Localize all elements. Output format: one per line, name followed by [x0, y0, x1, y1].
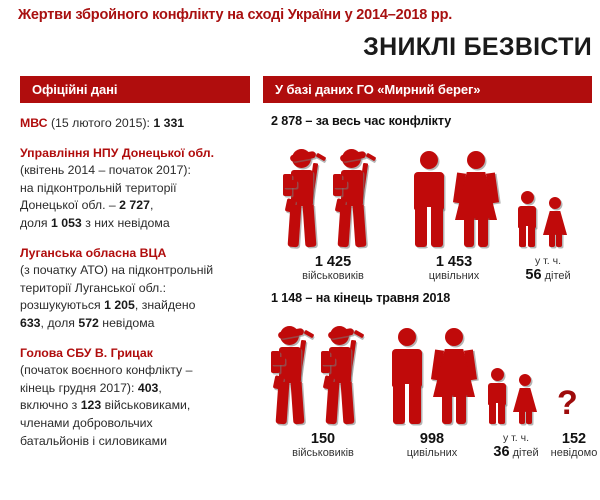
page-subtitle: ЗНИКЛІ БЕЗВІСТИ	[363, 33, 592, 62]
caption-military-may2018-unit: військовиків	[263, 446, 383, 460]
man-icon	[409, 151, 449, 247]
section-header-official-data: Офіційні дані	[20, 76, 250, 103]
caption-children-may2018-number: 36	[493, 444, 509, 460]
data-block-sbu-hrytsak-value-military: 123	[81, 398, 102, 412]
data-block-npu-donetsk-line1: (квітень 2014 – початок 2017):	[20, 163, 191, 177]
data-block-npu-donetsk-line3c: ,	[150, 198, 153, 212]
data-block-sbu-hrytsak-line4: членами добровольчих	[20, 416, 153, 430]
data-block-luhansk-vca: Луганська обласна ВЦА (з початку АТО) на…	[20, 245, 258, 333]
data-block-luhansk-vca-line3c: , знайдено	[135, 298, 196, 312]
pictogram-row-total: 1 425 військовиків 1 453 цивільних	[263, 134, 595, 287]
caption-military-may2018-number: 150	[263, 432, 383, 446]
data-block-mvs-value: 1 331	[153, 116, 184, 130]
caption-children-total-number: 56	[525, 267, 541, 283]
soldier-icon	[283, 147, 331, 247]
caption-children-may2018-unit: дітей	[513, 447, 539, 459]
soldier-icon	[271, 324, 319, 424]
page-title: Жертви збройного конфлікту на сході Укра…	[18, 7, 452, 23]
data-block-npu-donetsk-line3a: Донецької обл. –	[20, 198, 119, 212]
caption-children-total-prefix: у т. ч.	[503, 254, 593, 268]
data-block-sbu-hrytsak-line2a: кінець грудня 2017):	[20, 381, 138, 395]
girl-icon	[542, 197, 568, 247]
data-block-mvs: МВС (15 лютого 2015): 1 331	[20, 115, 258, 133]
data-block-sbu-hrytsak-line3a: включно з	[20, 398, 81, 412]
caption-civilians-total: 1 453 цивільних	[399, 255, 509, 283]
data-block-sbu-hrytsak-line1: (початок воєнного конфлікту –	[20, 363, 192, 377]
data-block-luhansk-vca-line1: (з початку АТО) на підконтрольній	[20, 263, 213, 277]
data-block-luhansk-vca-line4d: невідома	[99, 316, 155, 330]
section-header-official-data-label: Офіційні дані	[32, 82, 117, 97]
man-icon	[387, 328, 427, 424]
data-block-npu-donetsk-line4c: з них невідома	[82, 216, 170, 230]
boy-icon	[485, 368, 509, 424]
girl-icon	[512, 374, 538, 424]
data-block-npu-donetsk-value-unknown: 1 053	[51, 216, 82, 230]
data-block-luhansk-vca-line3a: розшукуються	[20, 298, 104, 312]
data-block-sbu-hrytsak-title: Голова СБУ В. Грицак	[20, 345, 258, 363]
data-block-luhansk-vca-value-searched: 1 205	[104, 298, 135, 312]
caption-unknown-may2018: 152 невідомо	[537, 432, 600, 460]
data-block-luhansk-vca-line4b: , доля	[41, 316, 79, 330]
section-header-database: У базі даних ГО «Мирний берег»	[263, 76, 592, 103]
boy-icon	[515, 191, 539, 247]
data-block-mvs-text1: (15 лютого 2015):	[48, 116, 154, 130]
data-block-luhansk-vca-value-found: 633	[20, 316, 41, 330]
group-heading-total: 2 878 – за весь час конфлікту	[271, 114, 595, 128]
question-mark-icon: ?	[557, 386, 578, 420]
caption-military-total-number: 1 425	[273, 255, 393, 269]
caption-military-may2018: 150 військовиків	[263, 432, 383, 460]
data-block-sbu-hrytsak-line3c: військовиками,	[101, 398, 190, 412]
data-block-sbu-hrytsak-value-total: 403	[138, 381, 159, 395]
data-block-luhansk-vca-line2: території Луганської обл.:	[20, 281, 166, 295]
section-header-database-label: У базі даних ГО «Мирний берег»	[275, 82, 480, 97]
woman-icon	[453, 151, 499, 247]
data-block-luhansk-vca-value-unknown: 572	[78, 316, 99, 330]
caption-military-total-unit: військовиків	[273, 269, 393, 283]
data-block-npu-donetsk: Управління НПУ Донецької обл. (квітень 2…	[20, 145, 258, 233]
pictogram-row-may2018: 150 військовиків 998 цивільних у	[263, 311, 595, 464]
data-block-sbu-hrytsak-line2c: ,	[158, 381, 161, 395]
official-data-column: МВС (15 лютого 2015): 1 331 Управління Н…	[20, 115, 258, 450]
soldier-icon	[321, 324, 369, 424]
data-block-mvs-title: МВС	[20, 116, 48, 130]
caption-unknown-may2018-number: 152	[537, 432, 600, 446]
data-block-npu-donetsk-line2: на підконтрольній території	[20, 181, 177, 195]
caption-children-total-unit: дітей	[545, 270, 571, 282]
caption-children-total: у т. ч. 56 дітей	[503, 254, 593, 283]
group-heading-may2018: 1 148 – на кінець травня 2018	[271, 291, 595, 305]
data-block-npu-donetsk-line4a: доля	[20, 216, 51, 230]
soldier-icon	[333, 147, 381, 247]
woman-icon	[431, 328, 477, 424]
data-block-sbu-hrytsak-line5: батальйонів і силовиками	[20, 434, 167, 448]
caption-unknown-may2018-unit: невідомо	[537, 446, 600, 460]
caption-military-total: 1 425 військовиків	[273, 255, 393, 283]
data-block-luhansk-vca-title: Луганська обласна ВЦА	[20, 245, 258, 263]
data-block-npu-donetsk-value-total: 2 727	[119, 198, 150, 212]
caption-civilians-total-unit: цивільних	[399, 269, 509, 283]
data-block-npu-donetsk-title: Управління НПУ Донецької обл.	[20, 145, 258, 163]
database-column: 2 878 – за весь час конфлікту 1 425 війс…	[263, 114, 595, 464]
caption-civilians-total-number: 1 453	[399, 255, 509, 269]
data-block-sbu-hrytsak: Голова СБУ В. Грицак (початок воєнного к…	[20, 345, 258, 451]
